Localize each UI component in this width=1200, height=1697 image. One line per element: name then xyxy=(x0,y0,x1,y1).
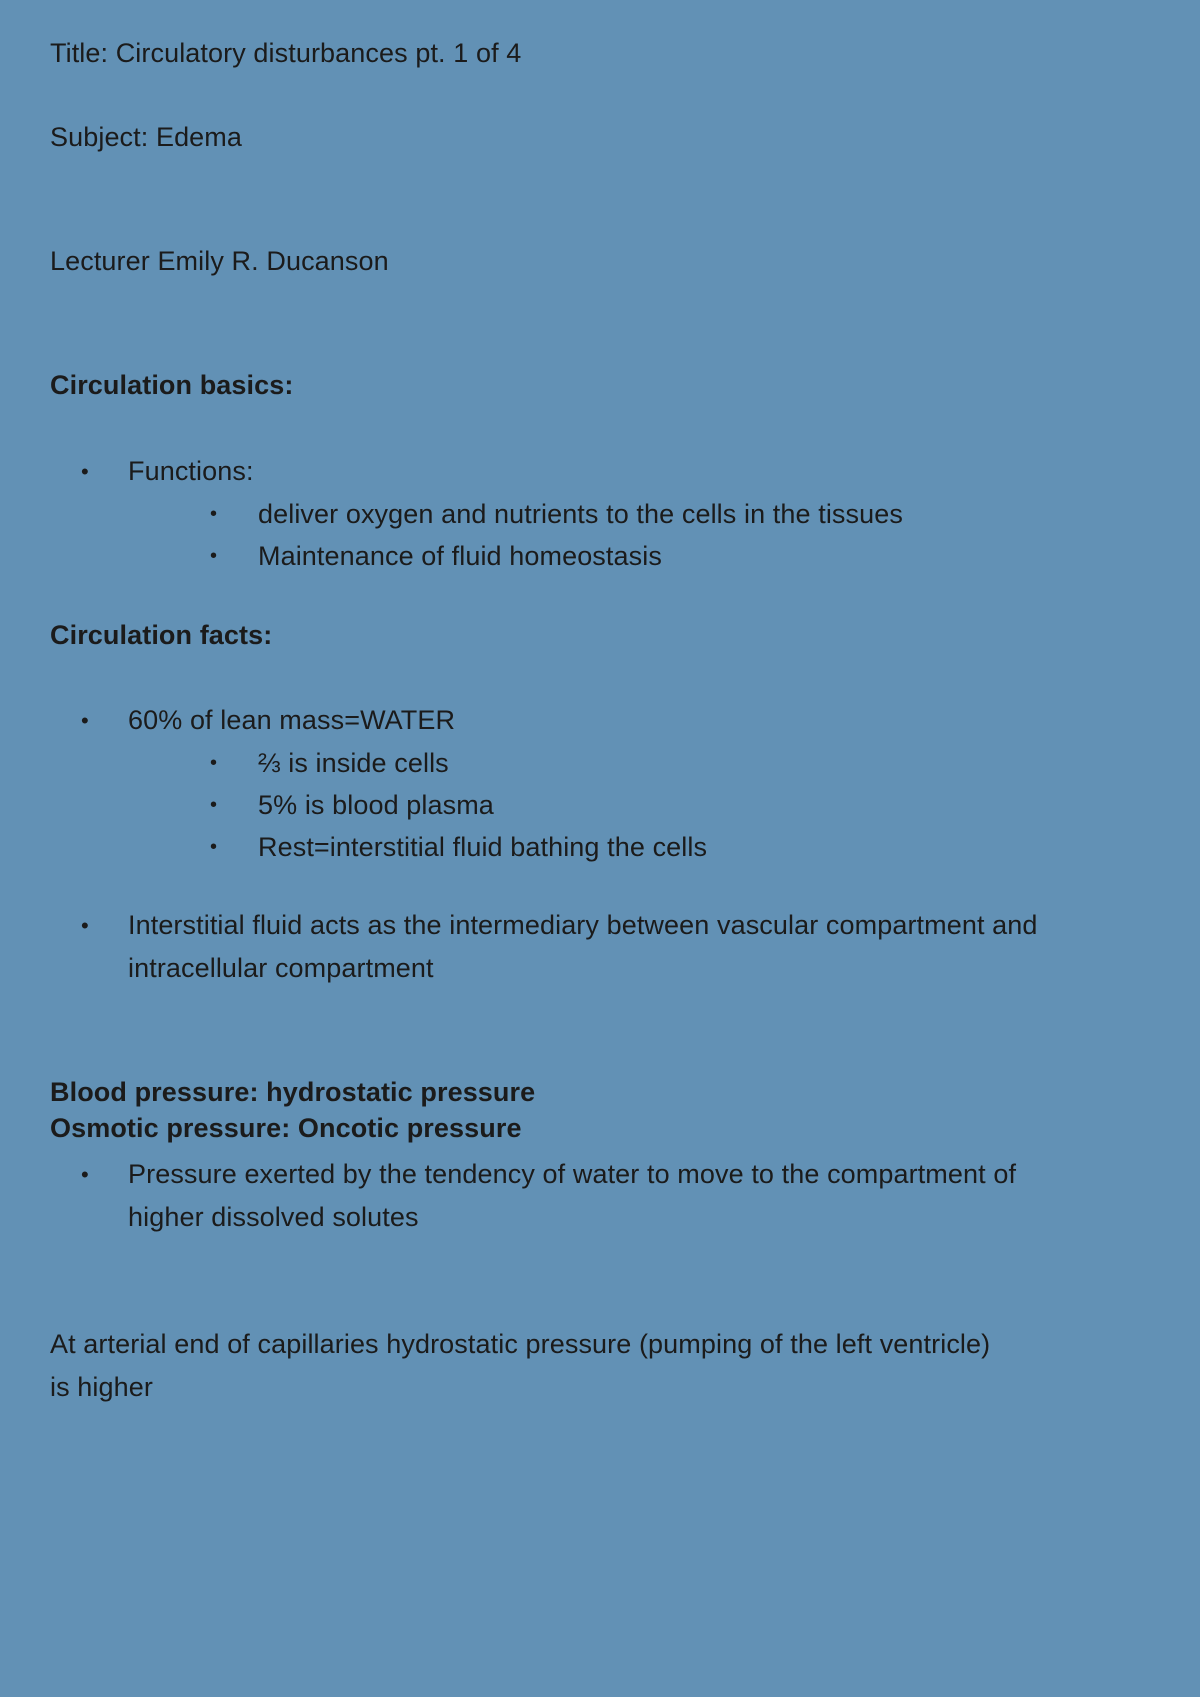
pressure-level1-list: Pressure exerted by the tendency of wate… xyxy=(50,1153,1088,1239)
basics-functions-label: Functions: xyxy=(128,450,903,493)
facts-level2-list: ⅔ is inside cells 5% is blood plasma Res… xyxy=(128,742,707,868)
lecturer-line: Lecturer Emily R. Ducanson xyxy=(50,243,389,279)
list-item: deliver oxygen and nutrients to the cell… xyxy=(128,493,903,535)
facts-water-label: 60% of lean mass=WATER xyxy=(128,699,707,742)
circulation-basics-heading: Circulation basics: xyxy=(50,367,293,403)
subject-line: Subject: Edema xyxy=(50,119,242,155)
list-item: ⅔ is inside cells xyxy=(128,742,707,784)
blood-pressure-heading-block: Blood pressure: hydrostatic pressure Osm… xyxy=(50,1074,535,1146)
list-item: Rest=interstitial fluid bathing the cell… xyxy=(128,826,707,868)
circulation-basics-list: Functions: deliver oxygen and nutrients … xyxy=(50,450,903,577)
closing-paragraph-block: At arterial end of capillaries hydrostat… xyxy=(50,1323,1010,1409)
circulation-facts-list: 60% of lean mass=WATER ⅔ is inside cells… xyxy=(50,699,707,868)
interstitial-level1-list: Interstitial fluid acts as the intermedi… xyxy=(50,904,1088,990)
circulation-facts-heading-block: Circulation facts: xyxy=(50,617,272,653)
blood-pressure-heading: Blood pressure: hydrostatic pressure xyxy=(50,1074,535,1110)
circulation-basics-heading-block: Circulation basics: xyxy=(50,367,293,403)
title-line: Title: Circulatory disturbances pt. 1 of… xyxy=(50,35,521,71)
closing-paragraph: At arterial end of capillaries hydrostat… xyxy=(50,1323,1010,1409)
basics-level1-list: Functions: deliver oxygen and nutrients … xyxy=(50,450,903,577)
pressure-definition-bullet-block: Pressure exerted by the tendency of wate… xyxy=(50,1153,1088,1239)
osmotic-pressure-heading: Osmotic pressure: Oncotic pressure xyxy=(50,1110,535,1146)
interstitial-fluid-bullet-block: Interstitial fluid acts as the intermedi… xyxy=(50,904,1088,990)
lecture-notes-page: Title: Circulatory disturbances pt. 1 of… xyxy=(0,0,1200,1697)
basics-level2-list: deliver oxygen and nutrients to the cell… xyxy=(128,493,903,577)
title-line-block: Title: Circulatory disturbances pt. 1 of… xyxy=(50,35,521,71)
circulation-facts-heading: Circulation facts: xyxy=(50,617,272,653)
list-item: Pressure exerted by the tendency of wate… xyxy=(50,1153,1088,1239)
list-item: 60% of lean mass=WATER ⅔ is inside cells… xyxy=(50,699,707,868)
subject-line-block: Subject: Edema xyxy=(50,119,242,155)
list-item: 5% is blood plasma xyxy=(128,784,707,826)
list-item: Functions: deliver oxygen and nutrients … xyxy=(50,450,903,577)
facts-level1-list: 60% of lean mass=WATER ⅔ is inside cells… xyxy=(50,699,707,868)
lecturer-line-block: Lecturer Emily R. Ducanson xyxy=(50,243,389,279)
list-item: Interstitial fluid acts as the intermedi… xyxy=(50,904,1088,990)
list-item: Maintenance of fluid homeostasis xyxy=(128,535,903,577)
